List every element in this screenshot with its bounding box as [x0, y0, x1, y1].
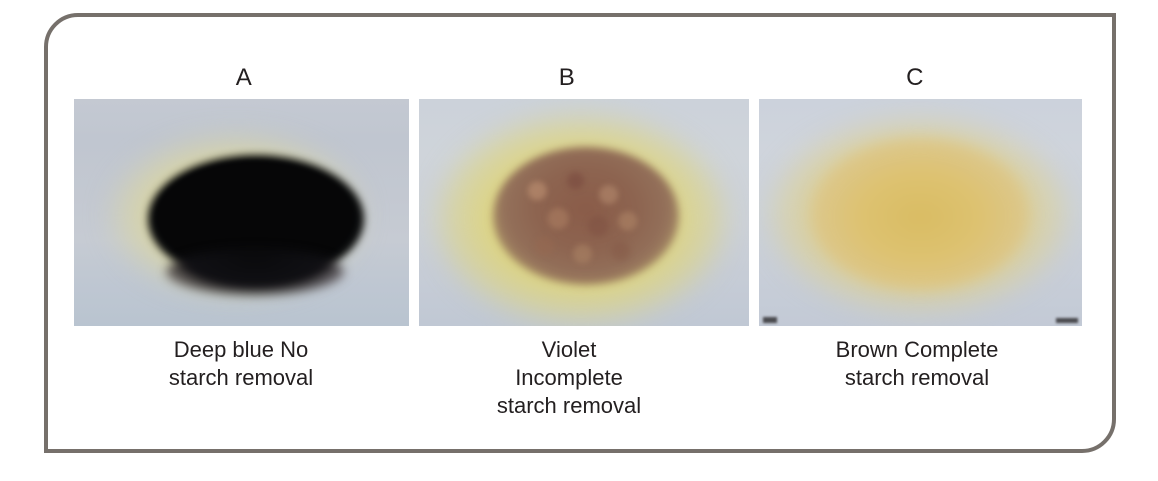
panel-c-caption-line-1: Brown Complete: [759, 336, 1075, 364]
panel-a-photograph: [74, 99, 409, 326]
panel-c-caption-line-2: starch removal: [759, 364, 1075, 392]
panel-a-caption-line-2: starch removal: [74, 364, 408, 392]
panel-b: B Violet Incomplete starch removal: [419, 63, 755, 420]
panel-c-speck-left: [763, 317, 777, 323]
panel-c-speck-right: [1056, 318, 1078, 323]
panel-b-caption: Violet Incomplete starch removal: [419, 336, 755, 420]
panel-c-letter: C: [759, 63, 1089, 99]
panel-b-blot-texture: [499, 153, 673, 279]
panel-a-blot-skirt: [166, 249, 344, 295]
figure-canvas: A Deep blue No starch removal B: [48, 17, 1112, 449]
panel-c-photograph: [759, 99, 1082, 326]
panel-b-caption-line-3: starch removal: [419, 392, 719, 420]
panel-b-caption-line-2: Incomplete: [419, 364, 719, 392]
panel-b-photograph: [419, 99, 749, 326]
panel-a-letter: A: [74, 63, 414, 99]
panel-b-caption-line-1: Violet: [419, 336, 719, 364]
panel-c: C Brown Complete starch removal: [759, 63, 1089, 392]
panel-a-caption: Deep blue No starch removal: [74, 336, 414, 392]
panel-b-letter: B: [419, 63, 755, 99]
panel-c-blot: [811, 139, 1029, 289]
figure-frame: A Deep blue No starch removal B: [44, 13, 1116, 453]
panel-a-caption-line-1: Deep blue No: [74, 336, 408, 364]
panel-c-caption: Brown Complete starch removal: [759, 336, 1089, 392]
panel-a: A Deep blue No starch removal: [74, 63, 414, 392]
